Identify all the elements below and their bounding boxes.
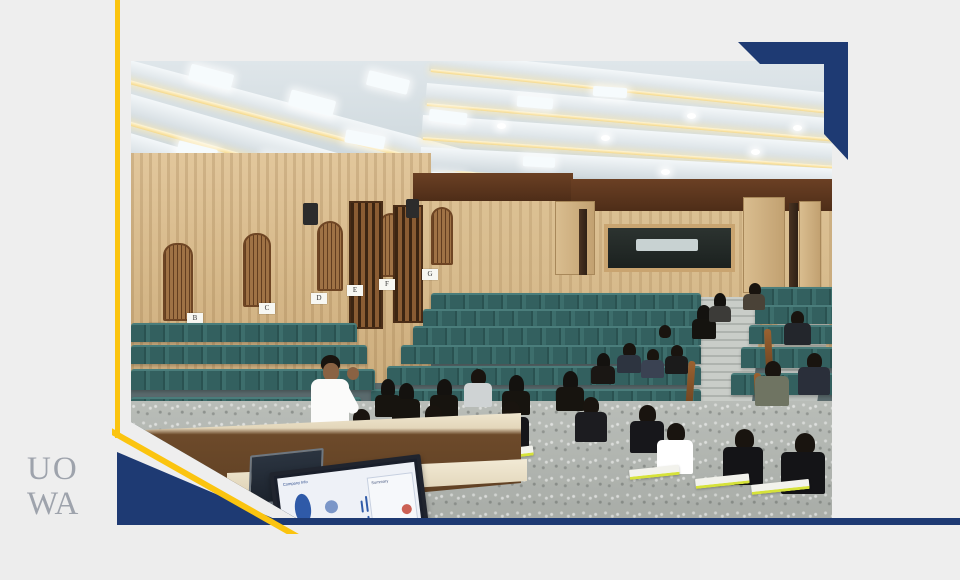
banner-canvas: A B C D E F G — [0, 0, 960, 580]
uowa-logo[interactable]: UO WA UOWA — [27, 452, 107, 524]
doorway-shadow — [579, 209, 587, 275]
ceiling-downlight — [497, 123, 506, 129]
slide-side-panel: Summary — [367, 472, 419, 521]
back-door — [555, 201, 595, 275]
torso — [755, 376, 789, 406]
head — [795, 433, 815, 454]
row-label: D — [311, 293, 327, 304]
wall-arch-panel — [431, 207, 453, 265]
mashrabiya-screen — [393, 205, 423, 323]
torso — [641, 360, 664, 378]
torso — [709, 306, 731, 322]
booth-air-conditioner — [636, 239, 698, 251]
row-label: E — [347, 285, 363, 296]
row-label: C — [259, 303, 275, 314]
side-door — [799, 201, 821, 293]
ceiling-downlight — [661, 169, 670, 175]
ceiling-downlight — [751, 149, 760, 155]
ceiling-downlight — [687, 113, 696, 119]
torso — [591, 366, 615, 384]
seat-row-right — [759, 287, 832, 306]
slide-panel-label: Summary — [371, 478, 389, 485]
torso — [743, 294, 765, 310]
wall-arch-panel — [317, 221, 343, 291]
mashrabiya-screen — [349, 201, 383, 329]
logo-alt-text: UOWA — [27, 522, 28, 523]
yellow-vertical-accent — [115, 0, 120, 438]
torso — [692, 319, 716, 339]
logo-line-1: UO — [27, 452, 107, 487]
wall-speaker — [303, 203, 318, 225]
torso — [784, 323, 811, 345]
ceiling-light-panel — [523, 156, 555, 168]
wall-arch-panel — [243, 233, 271, 307]
wall-speaker — [406, 199, 419, 218]
torso — [665, 356, 688, 374]
slide-bar — [360, 500, 363, 512]
logo-line-2: WA — [27, 487, 107, 522]
torso — [798, 367, 830, 395]
torso — [617, 355, 641, 373]
row-label: G — [422, 269, 438, 280]
ceiling-downlight — [793, 125, 802, 131]
head — [735, 429, 754, 449]
torso — [464, 383, 492, 407]
yellow-diagonal-accent — [112, 428, 302, 534]
row-label: F — [379, 279, 395, 290]
dark-wood-band — [413, 173, 573, 201]
seat-row-left — [131, 323, 357, 342]
side-door — [743, 197, 785, 293]
torso — [575, 412, 607, 442]
slide-graphic — [324, 500, 338, 514]
wall-arch-panel — [163, 243, 193, 321]
head — [659, 325, 671, 338]
doorway-shadow — [789, 203, 798, 293]
torso — [556, 387, 584, 411]
seat-row — [413, 326, 701, 345]
instructor-hand — [347, 367, 359, 380]
slide-panel-graphic — [401, 504, 412, 515]
ceiling-downlight — [601, 135, 610, 141]
torso — [375, 395, 401, 417]
